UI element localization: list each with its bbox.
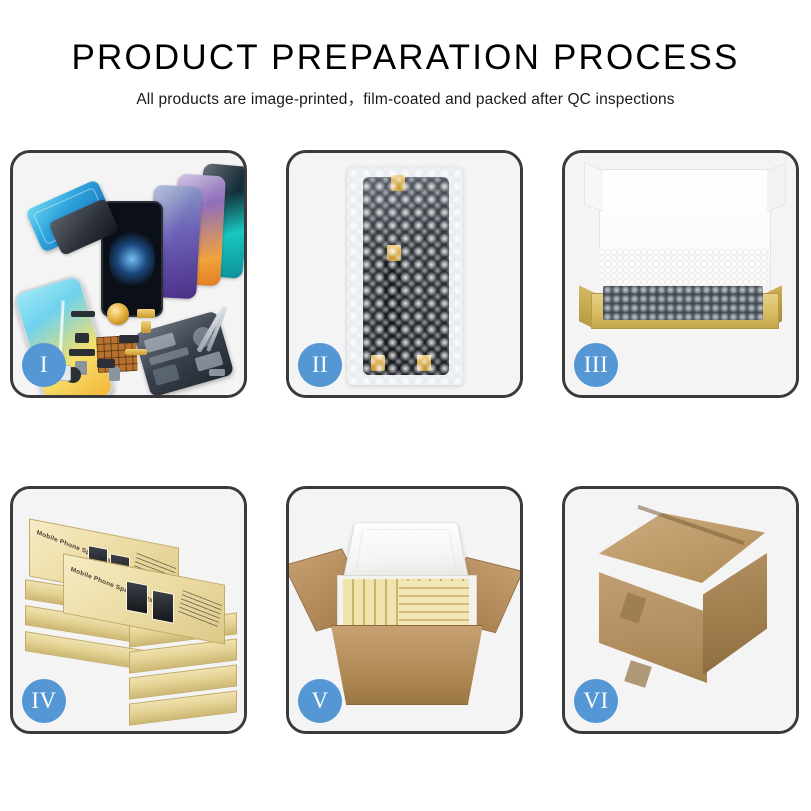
part-gold-flex bbox=[125, 349, 147, 355]
bubble-wrapped-contents bbox=[603, 286, 763, 320]
step-badge-4: IV bbox=[22, 679, 66, 723]
step-badge-1: I bbox=[22, 343, 66, 387]
box-spec-lines-2 bbox=[178, 590, 222, 630]
process-step-panel-6[interactable]: VI bbox=[562, 486, 799, 734]
gold-coil-part bbox=[107, 303, 129, 325]
carton-tape-lower bbox=[624, 660, 652, 688]
process-step-panel-4[interactable]: Mobile Phone Spare Parts Mobile Phone Sp… bbox=[10, 486, 247, 734]
page-header: PRODUCT PREPARATION PROCESS All products… bbox=[0, 0, 811, 109]
process-step-panel-5[interactable]: V bbox=[286, 486, 523, 734]
part-gold-bracket bbox=[141, 321, 151, 333]
box-art-screen-2b bbox=[152, 590, 174, 624]
part-gold-connector bbox=[137, 309, 155, 318]
step-badge-3: III bbox=[574, 343, 618, 387]
foam-lid bbox=[343, 523, 470, 582]
part-antenna-cable bbox=[97, 359, 115, 368]
process-step-panel-3[interactable]: III bbox=[562, 150, 799, 398]
bubble-texture-overlay bbox=[347, 167, 463, 385]
process-step-panel-1[interactable]: I bbox=[10, 150, 247, 398]
part-screw-set bbox=[209, 369, 225, 376]
part-shield-can bbox=[119, 335, 139, 343]
step-badge-2: II bbox=[298, 343, 342, 387]
bubble-wrap-package bbox=[347, 167, 463, 385]
step-badge-5: V bbox=[298, 679, 342, 723]
sealed-carton bbox=[579, 513, 785, 709]
part-strip bbox=[71, 311, 95, 317]
process-step-panel-2[interactable]: II bbox=[286, 150, 523, 398]
process-steps-grid: I II III bbox=[10, 150, 801, 734]
page-title: PRODUCT PREPARATION PROCESS bbox=[0, 40, 811, 77]
part-battery-connector bbox=[109, 367, 120, 381]
carton-front-face bbox=[599, 565, 707, 683]
box-art-screen-2a bbox=[126, 581, 148, 615]
page-subtitle: All products are image-printed，film-coat… bbox=[0, 87, 811, 109]
packed-retail-boxes-right bbox=[399, 581, 469, 627]
part-flex-cable bbox=[69, 349, 95, 356]
carton-body bbox=[331, 625, 483, 705]
step-badge-6: VI bbox=[574, 679, 618, 723]
part-camera-module bbox=[75, 333, 89, 343]
